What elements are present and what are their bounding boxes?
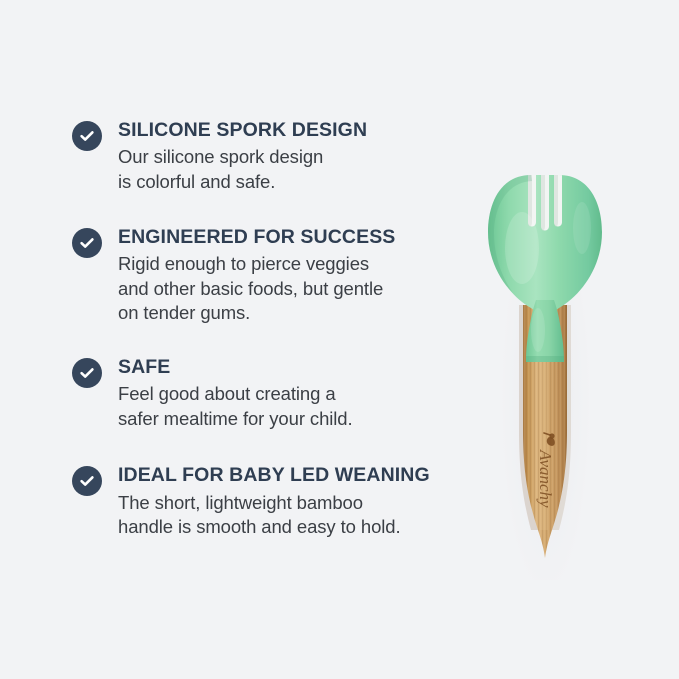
feature-description-line: Rigid enough to pierce veggies <box>118 252 462 277</box>
spork-tines <box>528 152 562 231</box>
feature-title: SILICONE SPORK DESIGN <box>118 118 462 142</box>
feature-item: IDEAL FOR BABY LED WEANING The short, li… <box>72 463 462 540</box>
feature-description-line: and other basic foods, but gentle <box>118 277 462 302</box>
feature-description: The short, lightweight bamboo handle is … <box>118 491 462 540</box>
feature-description-line: handle is smooth and easy to hold. <box>118 515 462 540</box>
check-circle-icon <box>72 358 102 388</box>
check-circle-icon <box>72 466 102 496</box>
feature-description-line: is colorful and safe. <box>118 170 462 195</box>
feature-list: SILICONE SPORK DESIGN Our silicone spork… <box>72 118 462 540</box>
check-circle-icon <box>72 228 102 258</box>
check-circle-icon <box>72 121 102 151</box>
feature-description: Rigid enough to pierce veggies and other… <box>118 252 462 326</box>
feature-description-line: Our silicone spork design <box>118 145 462 170</box>
feature-item: SILICONE SPORK DESIGN Our silicone spork… <box>72 118 462 195</box>
brand-text: Avanchy <box>536 449 555 508</box>
feature-item: SAFE Feel good about creating a safer me… <box>72 355 462 432</box>
product-feature-graphic: SILICONE SPORK DESIGN Our silicone spork… <box>0 0 679 679</box>
feature-description-line: on tender gums. <box>118 301 462 326</box>
feature-title: IDEAL FOR BABY LED WEANING <box>118 463 462 487</box>
feature-description-line: safer mealtime for your child. <box>118 407 462 432</box>
feature-description: Feel good about creating a safer mealtim… <box>118 382 462 431</box>
feature-title: ENGINEERED FOR SUCCESS <box>118 225 462 249</box>
feature-item: ENGINEERED FOR SUCCESS Rigid enough to p… <box>72 225 462 326</box>
feature-description: Our silicone spork design is colorful an… <box>118 145 462 194</box>
feature-title: SAFE <box>118 355 462 379</box>
feature-description-line: Feel good about creating a <box>118 382 462 407</box>
feature-description-line: The short, lightweight bamboo <box>118 491 462 516</box>
product-image: Avanchy <box>470 100 620 580</box>
